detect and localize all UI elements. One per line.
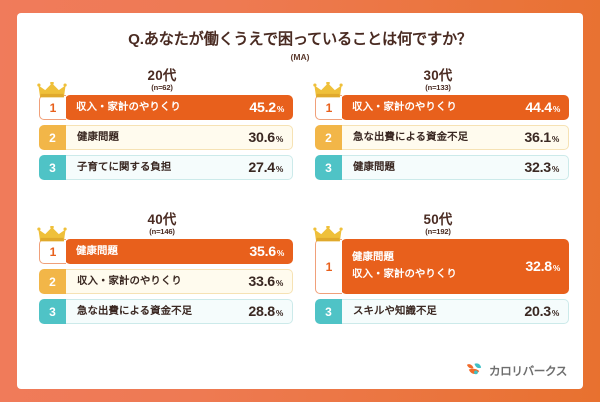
age-group-sample-size: (n=62) bbox=[31, 83, 293, 92]
rank-badge: 1 bbox=[39, 95, 66, 120]
rank-value: 45.2% bbox=[249, 100, 284, 116]
age-group-header: 30代(n=133) bbox=[307, 69, 569, 92]
rank-row-body: 急な出費による資金不足36.1% bbox=[342, 125, 569, 150]
percent-sign: % bbox=[277, 248, 284, 258]
age-group-header: 40代(n=146) bbox=[31, 213, 293, 236]
rank-row: 1収入・家計のやりくり44.4% bbox=[315, 95, 569, 120]
brand-logo: カロリバークス bbox=[465, 362, 567, 379]
rank-value-number: 32.3 bbox=[524, 160, 550, 176]
rank-row-body: 子育てに関する負担27.4% bbox=[66, 155, 293, 180]
rank-answer-label: 収入・家計のやりくり bbox=[76, 100, 249, 116]
rank-list: 1健康問題収入・家計のやりくり32.8%3スキルや知識不足20.3% bbox=[307, 239, 569, 324]
rank-value-number: 45.2 bbox=[249, 100, 275, 116]
rank-answer-labels: 子育てに関する負担 bbox=[77, 160, 248, 176]
rank-answer-label: 収入・家計のやりくり bbox=[77, 274, 248, 290]
rank-answer-labels: スキルや知識不足 bbox=[353, 304, 524, 320]
percent-sign: % bbox=[553, 263, 560, 273]
rank-list: 1収入・家計のやりくり45.2%2健康問題30.6%3子育てに関する負担27.4… bbox=[31, 95, 293, 180]
age-group-age-30s: 30代(n=133)1収入・家計のやりくり44.4%2急な出費による資金不足36… bbox=[307, 69, 569, 185]
rank-badge: 2 bbox=[39, 269, 66, 294]
rank-row-body: 収入・家計のやりくり44.4% bbox=[341, 95, 569, 120]
rank-value-number: 35.6 bbox=[249, 244, 275, 260]
rank-answer-labels: 急な出費による資金不足 bbox=[353, 130, 524, 146]
rank-answer-label: 急な出費による資金不足 bbox=[353, 130, 524, 146]
percent-sign: % bbox=[552, 164, 559, 174]
rank-value-number: 44.4 bbox=[525, 100, 551, 116]
rank-row: 3スキルや知識不足20.3% bbox=[315, 299, 569, 324]
age-group-age-50s: 50代(n=192)1健康問題収入・家計のやりくり32.8%3スキルや知識不足2… bbox=[307, 213, 569, 329]
rank-row-body: 収入・家計のやりくり45.2% bbox=[65, 95, 293, 120]
percent-sign: % bbox=[276, 278, 283, 288]
age-group-label: 50代 bbox=[307, 213, 569, 227]
rank-value: 27.4% bbox=[248, 160, 283, 176]
rank-badge: 1 bbox=[315, 239, 342, 294]
rank-value: 30.6% bbox=[248, 130, 283, 146]
age-group-age-20s: 20代(n=62)1収入・家計のやりくり45.2%2健康問題30.6%3子育てに… bbox=[31, 69, 293, 185]
age-group-sample-size: (n=146) bbox=[31, 227, 293, 236]
rank-badge: 2 bbox=[39, 125, 66, 150]
rank-value-number: 36.1 bbox=[524, 130, 550, 146]
rank-value: 32.3% bbox=[524, 160, 559, 176]
age-group-label: 40代 bbox=[31, 213, 293, 227]
rank-value-number: 33.6 bbox=[248, 274, 274, 290]
rank-answer-labels: 健康問題 bbox=[77, 130, 248, 146]
multiple-answer-note: (MA) bbox=[17, 52, 583, 62]
rank-row-body: 健康問題35.6% bbox=[65, 239, 293, 264]
age-group-age-40s: 40代(n=146)1健康問題35.6%2収入・家計のやりくり33.6%3急な出… bbox=[31, 213, 293, 329]
rank-value-number: 27.4 bbox=[248, 160, 274, 176]
content-panel: Q.あなたが働くうえで困っていることは何ですか？ (MA) 20代(n=62)1… bbox=[17, 13, 583, 389]
rank-answer-label: 健康問題 bbox=[76, 244, 249, 260]
rank-row: 2急な出費による資金不足36.1% bbox=[315, 125, 569, 150]
rank-badge: 2 bbox=[315, 125, 342, 150]
rank-row-body: 健康問題32.3% bbox=[342, 155, 569, 180]
rank-row-body: 急な出費による資金不足28.8% bbox=[66, 299, 293, 324]
rank-value: 28.8% bbox=[248, 304, 283, 320]
rank-answer-label: 収入・家計のやりくり bbox=[352, 100, 525, 116]
rank-answer-label: スキルや知識不足 bbox=[353, 304, 524, 320]
rank-row-body: 健康問題30.6% bbox=[66, 125, 293, 150]
percent-sign: % bbox=[276, 134, 283, 144]
rank-badge: 1 bbox=[39, 239, 66, 264]
rank-answer-label: 健康問題 bbox=[353, 160, 524, 176]
percent-sign: % bbox=[552, 134, 559, 144]
rank-row: 1収入・家計のやりくり45.2% bbox=[39, 95, 293, 120]
age-group-header: 20代(n=62) bbox=[31, 69, 293, 92]
rank-answer-labels: 健康問題 bbox=[76, 244, 249, 260]
age-group-sample-size: (n=133) bbox=[307, 83, 569, 92]
rank-answer-label: 健康問題 bbox=[77, 130, 248, 146]
rank-row: 3子育てに関する負担27.4% bbox=[39, 155, 293, 180]
age-group-label: 30代 bbox=[307, 69, 569, 83]
brand-name: カロリバークス bbox=[489, 363, 567, 379]
percent-sign: % bbox=[277, 104, 284, 114]
header: Q.あなたが働くうえで困っていることは何ですか？ (MA) bbox=[17, 27, 583, 62]
age-group-sample-size: (n=192) bbox=[307, 227, 569, 236]
rank-answer-labels: 健康問題収入・家計のやりくり bbox=[352, 250, 525, 282]
rank-value: 32.8% bbox=[525, 259, 560, 275]
rank-answer-labels: 収入・家計のやりくり bbox=[77, 274, 248, 290]
percent-sign: % bbox=[553, 104, 560, 114]
rank-value: 33.6% bbox=[248, 274, 283, 290]
results-grid: 20代(n=62)1収入・家計のやりくり45.2%2健康問題30.6%3子育てに… bbox=[31, 69, 569, 351]
rank-badge: 3 bbox=[315, 155, 342, 180]
rank-badge: 3 bbox=[315, 299, 342, 324]
rank-row: 3健康問題32.3% bbox=[315, 155, 569, 180]
rank-row-body: スキルや知識不足20.3% bbox=[342, 299, 569, 324]
rank-row-body: 健康問題収入・家計のやりくり32.8% bbox=[341, 239, 569, 294]
rank-row: 1健康問題35.6% bbox=[39, 239, 293, 264]
rank-answer-label: 収入・家計のやりくり bbox=[352, 267, 525, 283]
rank-answer-labels: 収入・家計のやりくり bbox=[352, 100, 525, 116]
rank-answer-labels: 急な出費による資金不足 bbox=[77, 304, 248, 320]
rank-value-number: 20.3 bbox=[524, 304, 550, 320]
rank-row-body: 収入・家計のやりくり33.6% bbox=[66, 269, 293, 294]
outer-frame: Q.あなたが働くうえで困っていることは何ですか？ (MA) 20代(n=62)1… bbox=[0, 0, 600, 402]
rank-value-number: 28.8 bbox=[248, 304, 274, 320]
rank-answer-label: 子育てに関する負担 bbox=[77, 160, 248, 176]
rank-value-number: 30.6 bbox=[248, 130, 274, 146]
percent-sign: % bbox=[276, 308, 283, 318]
rank-row: 1健康問題収入・家計のやりくり32.8% bbox=[315, 239, 569, 294]
rank-row: 3急な出費による資金不足28.8% bbox=[39, 299, 293, 324]
rank-value: 44.4% bbox=[525, 100, 560, 116]
rank-answer-label: 健康問題 bbox=[352, 250, 525, 266]
rank-answer-labels: 収入・家計のやりくり bbox=[76, 100, 249, 116]
age-group-header: 50代(n=192) bbox=[307, 213, 569, 236]
rank-answer-label: 急な出費による資金不足 bbox=[77, 304, 248, 320]
rank-list: 1健康問題35.6%2収入・家計のやりくり33.6%3急な出費による資金不足28… bbox=[31, 239, 293, 324]
rank-value: 20.3% bbox=[524, 304, 559, 320]
rank-value: 36.1% bbox=[524, 130, 559, 146]
calori-barks-mark-icon bbox=[465, 362, 484, 379]
rank-value-number: 32.8 bbox=[525, 259, 551, 275]
rank-badge: 1 bbox=[315, 95, 342, 120]
rank-answer-labels: 健康問題 bbox=[353, 160, 524, 176]
rank-value: 35.6% bbox=[249, 244, 284, 260]
rank-row: 2健康問題30.6% bbox=[39, 125, 293, 150]
rank-badge: 3 bbox=[39, 299, 66, 324]
age-group-label: 20代 bbox=[31, 69, 293, 83]
rank-row: 2収入・家計のやりくり33.6% bbox=[39, 269, 293, 294]
percent-sign: % bbox=[552, 308, 559, 318]
rank-badge: 3 bbox=[39, 155, 66, 180]
rank-list: 1収入・家計のやりくり44.4%2急な出費による資金不足36.1%3健康問題32… bbox=[307, 95, 569, 180]
percent-sign: % bbox=[276, 164, 283, 174]
page-title: Q.あなたが働くうえで困っていることは何ですか？ bbox=[17, 27, 583, 49]
